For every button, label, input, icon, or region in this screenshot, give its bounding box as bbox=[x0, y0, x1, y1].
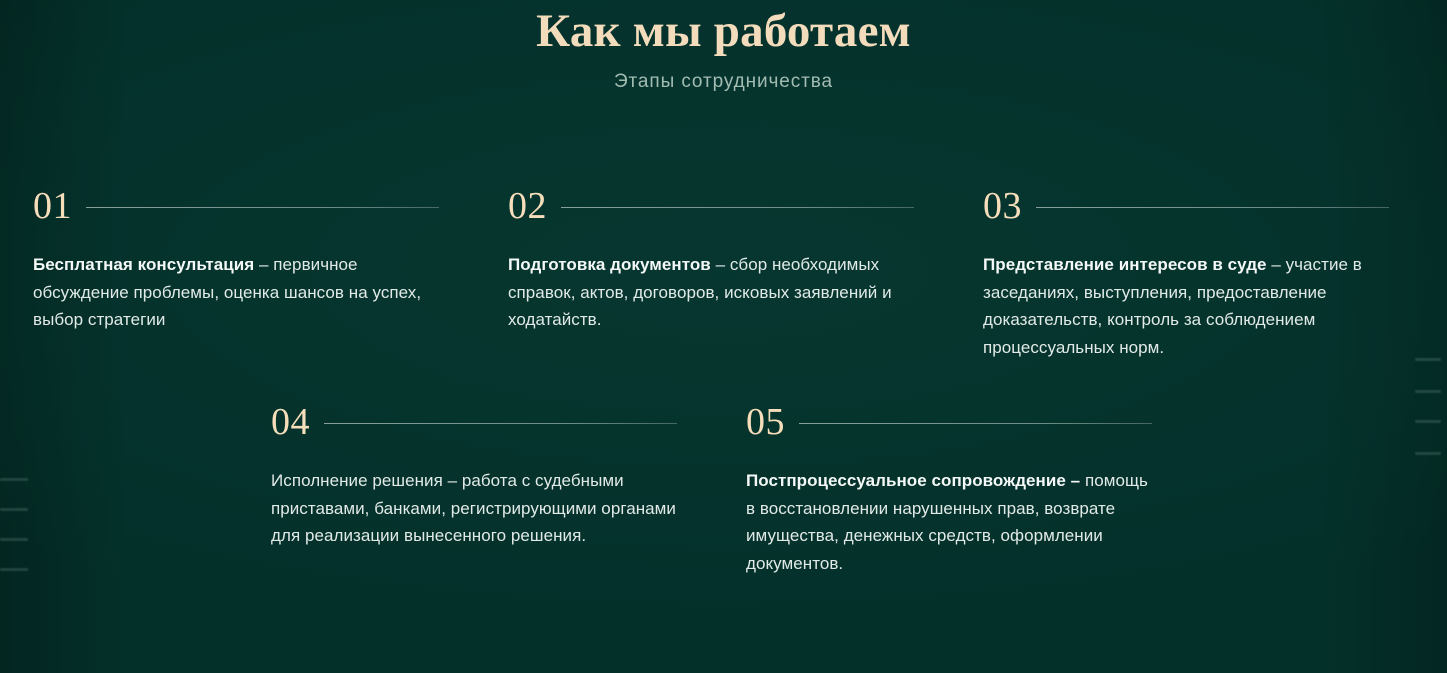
step-lead-03: Представление интересов в суде bbox=[983, 255, 1267, 274]
step-divider-02 bbox=[561, 207, 914, 208]
step-header-05: 05 bbox=[746, 401, 1152, 445]
steps-container: 01 Бесплатная консультация – первичное о… bbox=[0, 185, 1447, 577]
step-lead-05: Постпроцессуальное сопровождение – bbox=[746, 471, 1080, 490]
step-lead-02: Подготовка документов bbox=[508, 255, 711, 274]
step-description-03: Представление интересов в суде – участие… bbox=[983, 251, 1389, 361]
step-card-04: 04 Исполнение решения – работа с судебны… bbox=[238, 401, 713, 577]
step-divider-01 bbox=[86, 207, 439, 208]
step-divider-03 bbox=[1036, 207, 1389, 208]
step-card-05: 05 Постпроцессуальное сопровождение – по… bbox=[713, 401, 1188, 577]
step-header-03: 03 bbox=[983, 185, 1389, 229]
step-description-02: Подготовка документов – сбор необходимых… bbox=[508, 251, 914, 334]
step-divider-05 bbox=[799, 423, 1152, 424]
steps-row-bottom: 04 Исполнение решения – работа с судебны… bbox=[238, 401, 1447, 577]
step-number-02: 02 bbox=[508, 187, 547, 225]
step-lead-01: Бесплатная консультация bbox=[33, 255, 254, 274]
step-rest-04: Исполнение решения – работа с судебными … bbox=[271, 471, 676, 545]
step-number-05: 05 bbox=[746, 403, 785, 441]
step-header-02: 02 bbox=[508, 185, 914, 229]
step-description-05: Постпроцессуальное сопровождение – помощ… bbox=[746, 467, 1152, 577]
page-subtitle: Этапы сотрудничества bbox=[0, 71, 1447, 93]
section-header: Как мы работаем Этапы сотрудничества bbox=[0, 0, 1447, 93]
step-description-01: Бесплатная консультация – первичное обсу… bbox=[33, 251, 439, 334]
step-number-03: 03 bbox=[983, 187, 1022, 225]
steps-row-top: 01 Бесплатная консультация – первичное о… bbox=[0, 185, 1425, 361]
step-divider-04 bbox=[324, 423, 677, 424]
step-card-01: 01 Бесплатная консультация – первичное о… bbox=[0, 185, 475, 361]
page-title: Как мы работаем bbox=[0, 4, 1447, 59]
step-card-02: 02 Подготовка документов – сбор необходи… bbox=[475, 185, 950, 361]
step-number-04: 04 bbox=[271, 403, 310, 441]
step-header-04: 04 bbox=[271, 401, 677, 445]
step-card-03: 03 Представление интересов в суде – учас… bbox=[950, 185, 1425, 361]
step-description-04: Исполнение решения – работа с судебными … bbox=[271, 467, 677, 550]
step-header-01: 01 bbox=[33, 185, 439, 229]
step-number-01: 01 bbox=[33, 187, 72, 225]
